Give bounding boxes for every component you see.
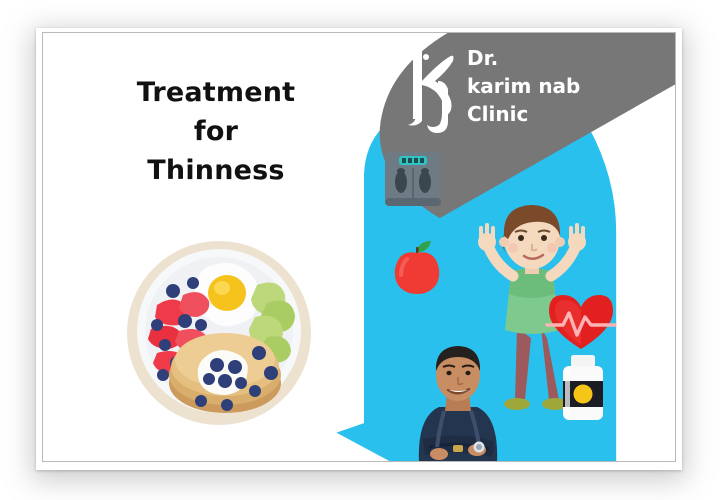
pill-bottle-icon [555,353,611,423]
kn-monogram-icon [408,45,454,133]
pancakes [169,333,281,413]
weight-scale-icon [381,148,445,210]
doctor-portrait-photo [399,335,517,462]
clinic-poster-card: Treatment for Thinness Dr. karim nabil C… [42,32,676,462]
apple-icon [391,239,443,295]
headline-line-3: Thinness [91,151,341,190]
logo-name-line-2: karim nabil [467,74,581,98]
clinic-logo: Dr. karim nabil Clinic [391,41,581,133]
breakfast-plate-illustration [121,233,317,429]
headline-line-1: Treatment [91,73,341,112]
logo-name-line-1: Dr. [467,46,498,70]
page-title: Treatment for Thinness [91,73,341,190]
headline-line-2: for [91,112,341,151]
logo-name-line-3: Clinic [467,102,528,126]
heart-pulse-icon [545,291,617,353]
slide-canvas: Treatment for Thinness Dr. karim nabil C… [0,0,720,500]
